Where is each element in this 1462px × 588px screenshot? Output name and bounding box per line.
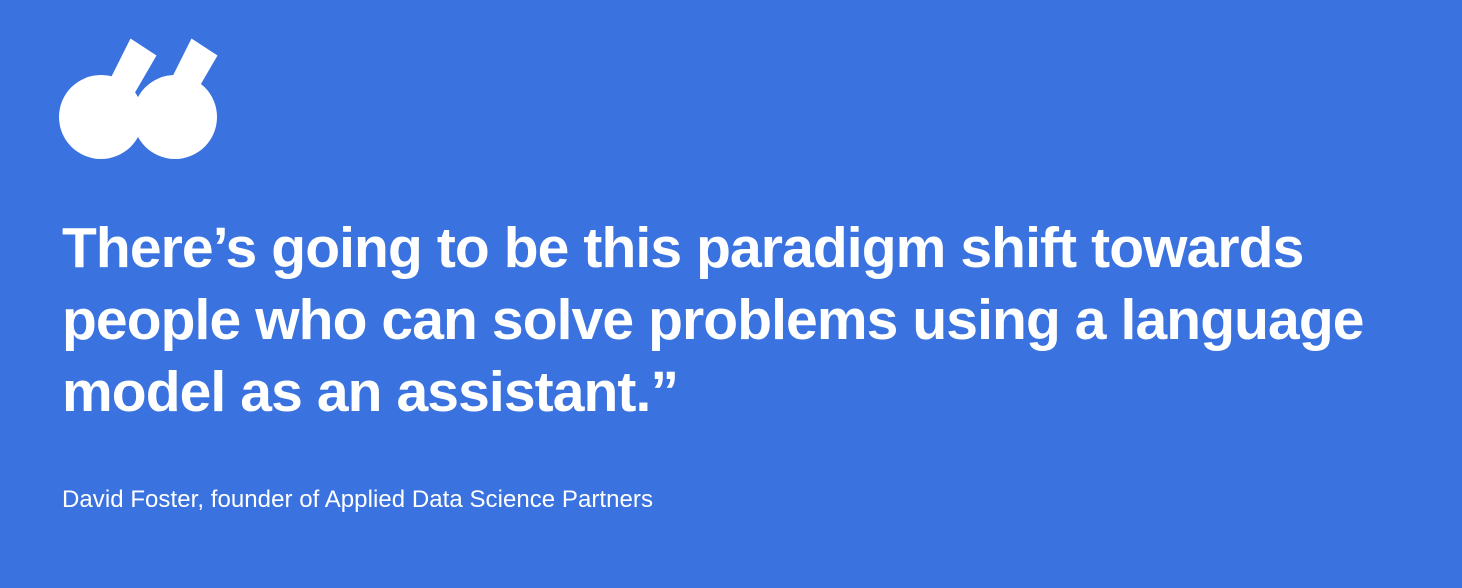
open-quote-icon [58, 30, 228, 160]
quote-text: There’s going to be this paradigm shift … [62, 212, 1422, 428]
quote-attribution: David Foster, founder of Applied Data Sc… [62, 484, 653, 516]
quote-line-2: people who can solve problems using a la… [62, 284, 1422, 356]
quote-line-1: There’s going to be this paradigm shift … [62, 212, 1422, 284]
quote-line-3: model as an assistant.” [62, 356, 1422, 428]
quote-card: There’s going to be this paradigm shift … [0, 0, 1462, 588]
